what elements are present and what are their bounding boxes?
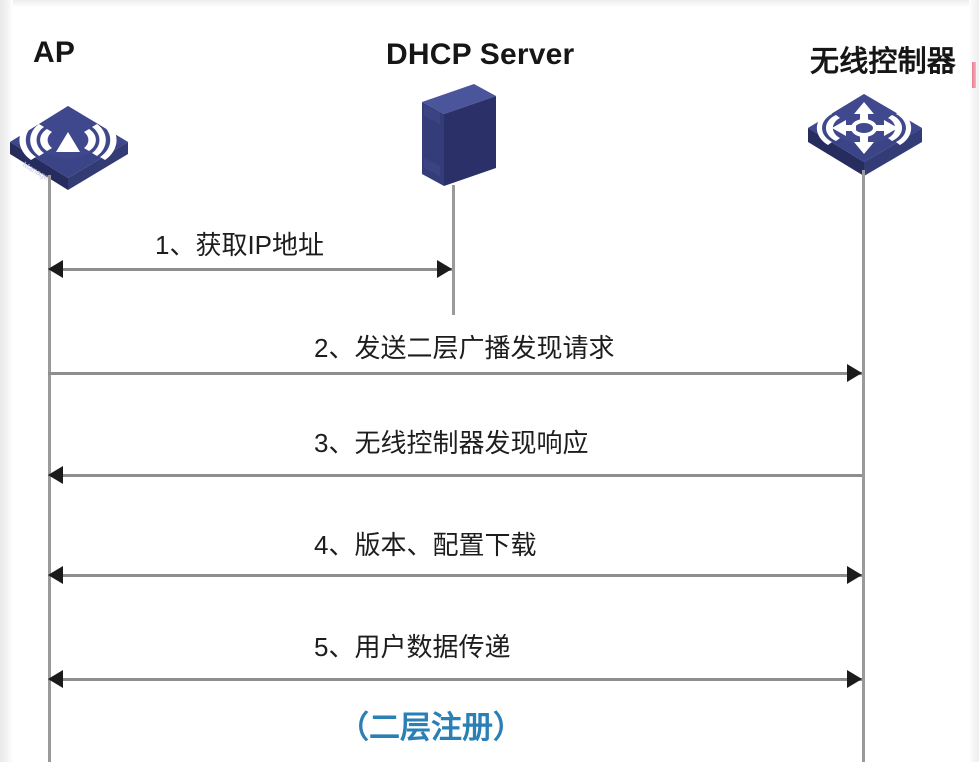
message-arrowhead-4-left [48,566,63,584]
message-line-2 [48,372,862,375]
wifi-access-point-icon: Manage [8,100,133,195]
message-arrowhead-1-left [48,260,63,278]
actor-label-wireless-controller: 无线控制器 [810,38,956,80]
page-top-edge [0,0,979,7]
message-label-3: 3、无线控制器发现响应 [314,423,588,460]
message-arrowhead-2-right [847,364,862,382]
message-label-4: 4、版本、配置下载 [314,525,536,562]
message-arrowhead-5-right [847,670,862,688]
message-label-5: 5、用户数据传递 [314,627,510,664]
message-line-4 [48,574,862,577]
message-arrowhead-4-right [847,566,862,584]
actor-label-dhcp-server: DHCP Server [386,38,574,72]
lifeline-dhcp-server [452,185,455,315]
message-label-1: 1、获取IP地址 [155,225,324,262]
message-label-2: 2、发送二层广播发现请求 [314,328,614,365]
message-arrowhead-3-left [48,466,63,484]
message-line-5 [48,678,862,681]
message-arrowhead-1-right [437,260,452,278]
page-right-edge [969,0,979,762]
red-edge-mark [972,62,976,88]
wireless-controller-icon [806,88,926,185]
sequence-diagram-canvas: AP DHCP Server 无线控制器 Manage [0,0,979,762]
lifeline-wireless-controller [862,170,865,762]
message-line-1 [48,268,452,271]
actor-label-ap: AP [33,36,75,70]
message-line-3 [48,474,862,477]
message-arrowhead-5-left [48,670,63,688]
diagram-caption: （二层注册） [338,702,524,747]
server-tower-icon [404,80,504,195]
